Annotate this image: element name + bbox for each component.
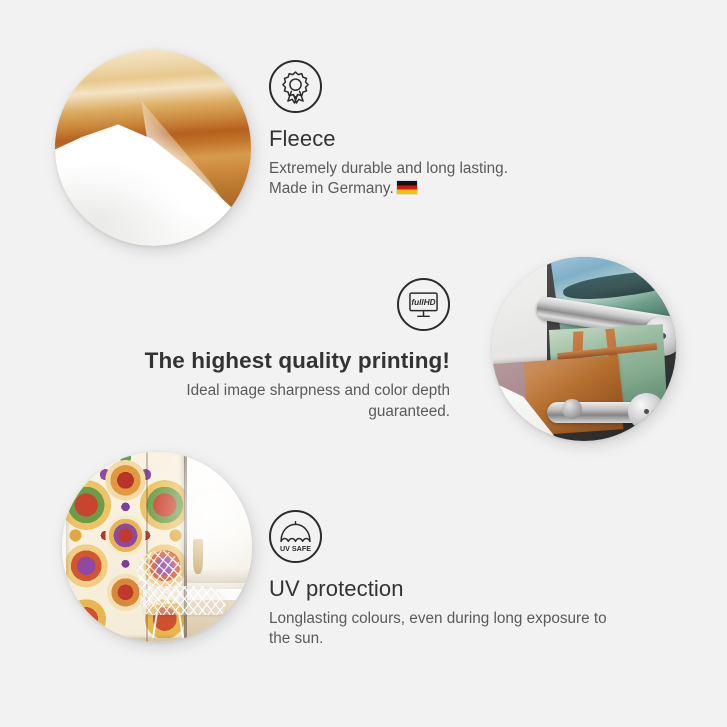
feature-printing: fullHD The highest quality printing! Ide… [140, 278, 450, 423]
interior-artwork [62, 452, 252, 642]
feature-fleece-desc-line1: Extremely durable and long lasting. [269, 160, 508, 177]
fullhd-monitor-icon: fullHD [397, 278, 450, 331]
feature-uv-desc-line1: Longlasting colours, even during long ex… [269, 610, 607, 627]
feature-showcase: Fleece Extremely durable and long lastin… [0, 0, 727, 727]
award-rosette-icon [269, 60, 322, 113]
feature-printing-desc-line1: Ideal image sharpness and color depth [186, 382, 450, 399]
mandala-wallpaper-interior-photo [62, 452, 252, 642]
feature-fleece-description: Extremely durable and long lasting. Made… [269, 159, 569, 201]
feature-fleece-desc-line2: Made in Germany. [269, 180, 394, 197]
feature-uv-desc-line2: the sun. [269, 630, 323, 647]
german-flag-icon [397, 181, 417, 194]
uv-safe-umbrella-icon: UV SAFE [269, 510, 322, 563]
fleece-roll-artwork [55, 50, 251, 246]
svg-text:UV SAFE: UV SAFE [280, 545, 311, 553]
fleece-wallpaper-roll-photo [55, 50, 251, 246]
feature-uv-description: Longlasting colours, even during long ex… [269, 609, 669, 651]
feature-printing-description: Ideal image sharpness and color depth gu… [140, 381, 450, 423]
fleece-soft-shadow [55, 50, 251, 246]
printer-roller-knob [562, 399, 582, 419]
feature-printing-title: The highest quality printing! [140, 347, 450, 375]
feature-uv-title: UV protection [269, 575, 669, 603]
svg-text:fullHD: fullHD [411, 298, 435, 307]
feature-printing-desc-line2: guaranteed. [368, 403, 450, 420]
room-daylight-glow [62, 452, 252, 642]
feature-fleece-title: Fleece [269, 125, 569, 153]
printer-roller-cap-bottom-right [628, 393, 665, 430]
large-format-printer-photo [492, 257, 676, 441]
printer-artwork [492, 257, 676, 441]
feature-uv-protection: UV SAFE UV protection Longlasting colour… [269, 510, 669, 650]
feature-fleece: Fleece Extremely durable and long lastin… [269, 60, 569, 200]
